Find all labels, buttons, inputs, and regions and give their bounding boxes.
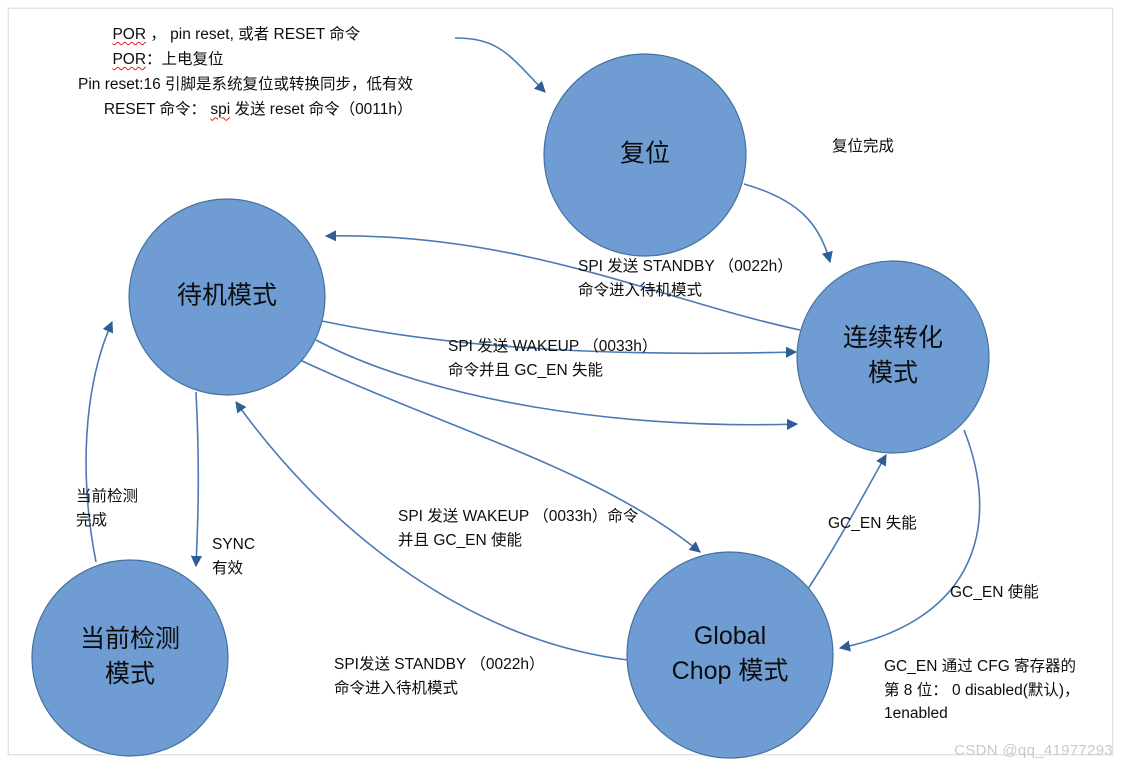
edge-label-line: SYNC bbox=[212, 533, 255, 557]
edge-label-reset-done: 复位完成 bbox=[832, 135, 894, 159]
edge-label-standby-cmd-top: SPI 发送 STANDBY （0022h）命令进入待机模式 bbox=[578, 255, 793, 302]
edge-label-line: 第 8 位： 0 disabled(默认)， bbox=[884, 679, 1080, 703]
note-line: Pin reset:16 引脚是系统复位或转换同步，低有效 bbox=[78, 72, 413, 97]
note-line: POR：上电复位 bbox=[78, 47, 413, 72]
edge-reset-to-continuous bbox=[744, 184, 830, 262]
csdn-watermark: CSDN @qq_41977293 bbox=[954, 742, 1113, 759]
edge-label-wakeup-gcen-disable: SPI 发送 WAKEUP （0033h）命令并且 GC_EN 失能 bbox=[448, 335, 657, 382]
note-line: RESET 命令： spi 发送 reset 命令（0011h） bbox=[78, 97, 413, 122]
edge-label-line: 完成 bbox=[76, 509, 138, 533]
state-label-global-chop: Global bbox=[694, 622, 766, 650]
edge-label-line: 命令进入待机模式 bbox=[334, 677, 544, 701]
state-label-continuous: 连续转化 bbox=[843, 324, 943, 352]
edge-external-to-reset bbox=[455, 38, 545, 92]
edge-label-sync-valid: SYNC有效 bbox=[212, 533, 255, 580]
state-label-reset: 复位 bbox=[620, 140, 670, 168]
edge-label-line: GC_EN 通过 CFG 寄存器的 bbox=[884, 655, 1080, 679]
edge-label-line: SPI 发送 STANDBY （0022h） bbox=[578, 255, 793, 279]
state-node-current-det[interactable] bbox=[32, 560, 228, 756]
edge-label-line: 1enabled bbox=[884, 702, 1080, 726]
state-label-current-det: 模式 bbox=[105, 660, 155, 688]
state-node-global-chop[interactable] bbox=[627, 552, 833, 758]
edge-label-line: GC_EN 失能 bbox=[828, 512, 917, 536]
edge-label-line: 有效 bbox=[212, 557, 255, 581]
edge-label-line: GC_EN 使能 bbox=[950, 581, 1039, 605]
state-label-current-det: 当前检测 bbox=[80, 625, 180, 653]
edge-standby-to-currentdet bbox=[196, 392, 198, 566]
state-node-continuous[interactable] bbox=[797, 261, 989, 453]
edge-label-line: 命令进入待机模式 bbox=[578, 279, 793, 303]
edge-label-line: SPI 发送 WAKEUP （0033h）命令 bbox=[398, 505, 638, 529]
edge-label-current-det-done: 当前检测完成 bbox=[76, 485, 138, 532]
state-label-standby: 待机模式 bbox=[177, 282, 277, 310]
edge-label-line: SPI 发送 WAKEUP （0033h） bbox=[448, 335, 657, 359]
edge-label-line: 命令并且 GC_EN 失能 bbox=[448, 359, 657, 383]
edge-label-wakeup-gcen-enable: SPI 发送 WAKEUP （0033h）命令并且 GC_EN 使能 bbox=[398, 505, 638, 552]
edge-label-gcen-disable: GC_EN 失能 bbox=[828, 512, 917, 536]
state-label-global-chop: Chop 模式 bbox=[672, 657, 789, 685]
note-line: POR ， pin reset, 或者 RESET 命令 bbox=[78, 22, 413, 47]
diagram-canvas: 复位待机模式连续转化模式GlobalChop 模式当前检测模式 POR ， pi… bbox=[0, 0, 1127, 769]
note-reset-trigger-note: POR ， pin reset, 或者 RESET 命令 POR：上电复位Pin… bbox=[78, 22, 413, 122]
edge-label-line: 当前检测 bbox=[76, 485, 138, 509]
edge-label-gcen-cfg-note: GC_EN 通过 CFG 寄存器的第 8 位： 0 disabled(默认)，1… bbox=[884, 655, 1080, 726]
state-label-continuous: 模式 bbox=[868, 359, 918, 387]
edge-label-line: 并且 GC_EN 使能 bbox=[398, 529, 638, 553]
edge-continuous-to-globalchop bbox=[840, 430, 980, 648]
edge-label-line: SPI发送 STANDBY （0022h） bbox=[334, 653, 544, 677]
edge-label-gcen-enable: GC_EN 使能 bbox=[950, 581, 1039, 605]
edge-label-line: 复位完成 bbox=[832, 135, 894, 159]
edge-label-standby-cmd-bottom: SPI发送 STANDBY （0022h）命令进入待机模式 bbox=[334, 653, 544, 700]
